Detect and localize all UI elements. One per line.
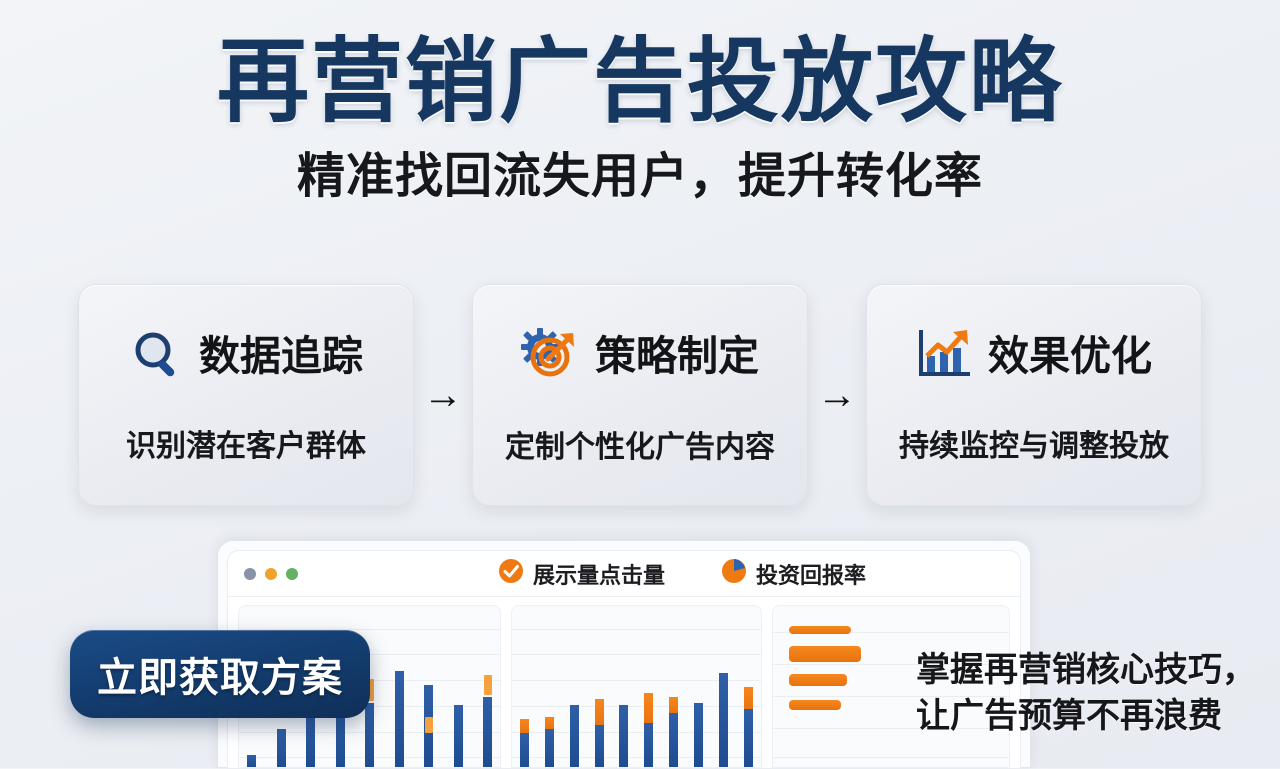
chart-bar <box>454 705 463 767</box>
chart-bar <box>619 705 628 767</box>
window-dot-green[interactable] <box>286 568 298 580</box>
chart-hbar <box>789 674 847 686</box>
magnifier-icon <box>129 326 185 387</box>
chart-bar <box>669 697 678 767</box>
check-circle-icon <box>498 558 524 589</box>
chart-bar <box>520 719 529 767</box>
legend-item-roi[interactable]: 投资回报率 <box>721 558 866 590</box>
window-dot-gray[interactable] <box>244 568 256 580</box>
chart-bar <box>277 729 286 767</box>
chart-bar <box>719 673 728 767</box>
gear-target-arrow-icon <box>521 325 581 388</box>
step-card-optimization[interactable]: 效果优化 持续监控与调整投放 <box>866 284 1202 506</box>
tagline: 掌握再营销核心技巧， 让广告预算不再浪费 <box>916 648 1276 739</box>
chart-bar <box>365 703 374 767</box>
legend-label-roi: 投资回报率 <box>756 558 866 590</box>
page-title: 再营销广告投放攻略 <box>0 0 1280 131</box>
legend-item-impressions[interactable]: 展示量点击量 <box>498 558 665 590</box>
step-card-data-tracking[interactable]: 数据追踪 识别潜在客户群体 <box>78 284 414 506</box>
window-toolbar: 展示量点击量 投资回报率 <box>228 551 1020 597</box>
chart-bar <box>694 703 703 767</box>
legend-label-impressions: 展示量点击量 <box>533 558 665 590</box>
tagline-line-1: 掌握再营销核心技巧， <box>916 648 1276 694</box>
pie-chart-icon <box>721 558 747 589</box>
chart-bar <box>395 671 404 767</box>
step-card-title: 效果优化 <box>988 336 1152 377</box>
step-card-desc: 定制个性化广告内容 <box>505 422 775 466</box>
chart-hbar <box>789 700 841 710</box>
chart-bar <box>483 697 492 767</box>
poster-canvas: 再营销广告投放攻略 精准找回流失用户，提升转化率 数据追踪 识别潜在客户群体 → <box>0 0 1280 768</box>
chart-bars <box>520 614 753 767</box>
chart-bar <box>247 755 256 767</box>
step-card-header: 效果优化 <box>877 326 1191 387</box>
step-card-desc: 识别潜在客户群体 <box>126 421 366 465</box>
chart-bar <box>644 693 653 767</box>
chart-bar <box>595 699 604 767</box>
step-card-header: 数据追踪 <box>89 326 403 387</box>
tagline-line-2: 让广告预算不再浪费 <box>916 694 1276 740</box>
chart-bar <box>545 717 554 767</box>
hero-section: 再营销广告投放攻略 精准找回流失用户，提升转化率 <box>0 0 1280 203</box>
window-controls[interactable] <box>244 568 298 580</box>
window-dot-orange[interactable] <box>265 568 277 580</box>
dashboard-legend: 展示量点击量 投资回报率 <box>498 558 866 590</box>
step-card-title: 数据追踪 <box>199 336 363 377</box>
chart-bar <box>570 705 579 767</box>
bar-chart-growth-icon <box>916 326 974 387</box>
chart-hbar <box>789 626 851 634</box>
step-card-title: 策略制定 <box>595 336 759 377</box>
arrow-right-icon-2: → <box>813 375 861 415</box>
chart-panel-roi[interactable] <box>511 605 762 768</box>
chart-bar <box>744 687 753 767</box>
step-card-desc: 持续监控与调整投放 <box>899 421 1169 465</box>
chart-hbar <box>789 646 861 662</box>
page-subtitle: 精准找回流失用户，提升转化率 <box>0 131 1280 204</box>
step-card-strategy[interactable]: 策略制定 定制个性化广告内容 <box>472 284 808 506</box>
arrow-right-icon-1: → <box>419 375 467 415</box>
cta-button[interactable]: 立即获取方案 <box>70 630 370 718</box>
steps-row: 数据追踪 识别潜在客户群体 → <box>78 282 1202 508</box>
step-card-header: 策略制定 <box>483 325 797 388</box>
chart-bar <box>424 685 433 767</box>
